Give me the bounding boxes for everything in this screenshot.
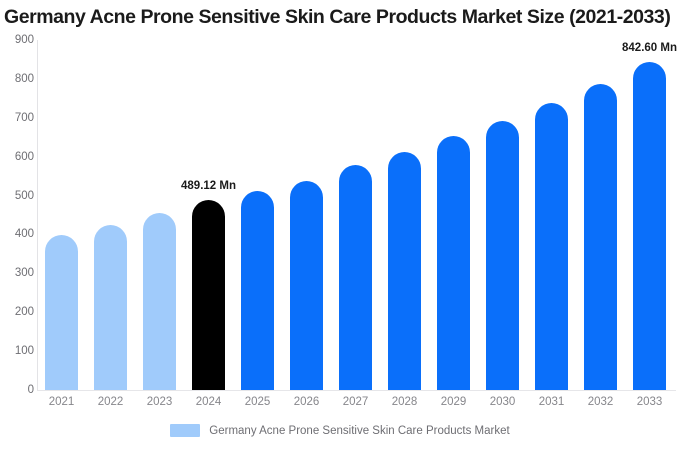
bar-2032[interactable] [584, 84, 617, 390]
x-axis-tick-2025: 2025 [233, 396, 282, 408]
y-axis-tick: 100 [0, 345, 34, 357]
x-axis-tick-2032: 2032 [576, 396, 625, 408]
chart-legend: Germany Acne Prone Sensitive Skin Care P… [0, 424, 680, 437]
bar-2023[interactable] [143, 213, 176, 390]
bar-2025[interactable] [241, 191, 274, 391]
y-axis-tick: 300 [0, 267, 34, 279]
y-axis-tick: 900 [0, 34, 34, 46]
bar-series: 489.12 Mn842.60 Mn [37, 40, 676, 390]
y-axis-tick: 500 [0, 190, 34, 202]
x-axis-tick-2022: 2022 [86, 396, 135, 408]
y-axis-tick: 600 [0, 151, 34, 163]
bar-2029[interactable] [437, 136, 470, 390]
bar-2021[interactable] [45, 235, 78, 390]
bar-2026[interactable] [290, 181, 323, 390]
y-axis-tick-labels: 0100200300400500600700800900 [0, 0, 34, 450]
y-axis-tick: 400 [0, 228, 34, 240]
x-axis-line [37, 390, 676, 391]
y-axis-tick: 800 [0, 73, 34, 85]
value-label-2024: 489.12 Mn [181, 180, 236, 192]
x-axis-tick-2033: 2033 [625, 396, 674, 408]
y-axis-tick: 200 [0, 306, 34, 318]
bar-2027[interactable] [339, 165, 372, 390]
x-axis-tick-2023: 2023 [135, 396, 184, 408]
x-axis-tick-labels: 2021202220232024202520262027202820292030… [37, 396, 676, 416]
x-axis-tick-2030: 2030 [478, 396, 527, 408]
legend-label: Germany Acne Prone Sensitive Skin Care P… [209, 425, 509, 437]
x-axis-tick-2029: 2029 [429, 396, 478, 408]
x-axis-tick-2027: 2027 [331, 396, 380, 408]
x-axis-tick-2024: 2024 [184, 396, 233, 408]
x-axis-tick-2031: 2031 [527, 396, 576, 408]
x-axis-tick-2021: 2021 [37, 396, 86, 408]
x-axis-tick-2028: 2028 [380, 396, 429, 408]
bar-2030[interactable] [486, 121, 519, 391]
value-label-2033: 842.60 Mn [622, 42, 677, 54]
chart-title: Germany Acne Prone Sensitive Skin Care P… [4, 6, 680, 29]
bar-2022[interactable] [94, 225, 127, 390]
bar-2031[interactable] [535, 103, 568, 390]
y-axis-tick: 700 [0, 112, 34, 124]
x-axis-tick-2026: 2026 [282, 396, 331, 408]
bar-2028[interactable] [388, 152, 421, 390]
bar-2024[interactable] [192, 200, 225, 390]
chart-container: Germany Acne Prone Sensitive Skin Care P… [0, 0, 680, 450]
y-axis-tick: 0 [0, 384, 34, 396]
bar-2033[interactable] [633, 62, 666, 390]
legend-swatch-icon [170, 424, 200, 437]
